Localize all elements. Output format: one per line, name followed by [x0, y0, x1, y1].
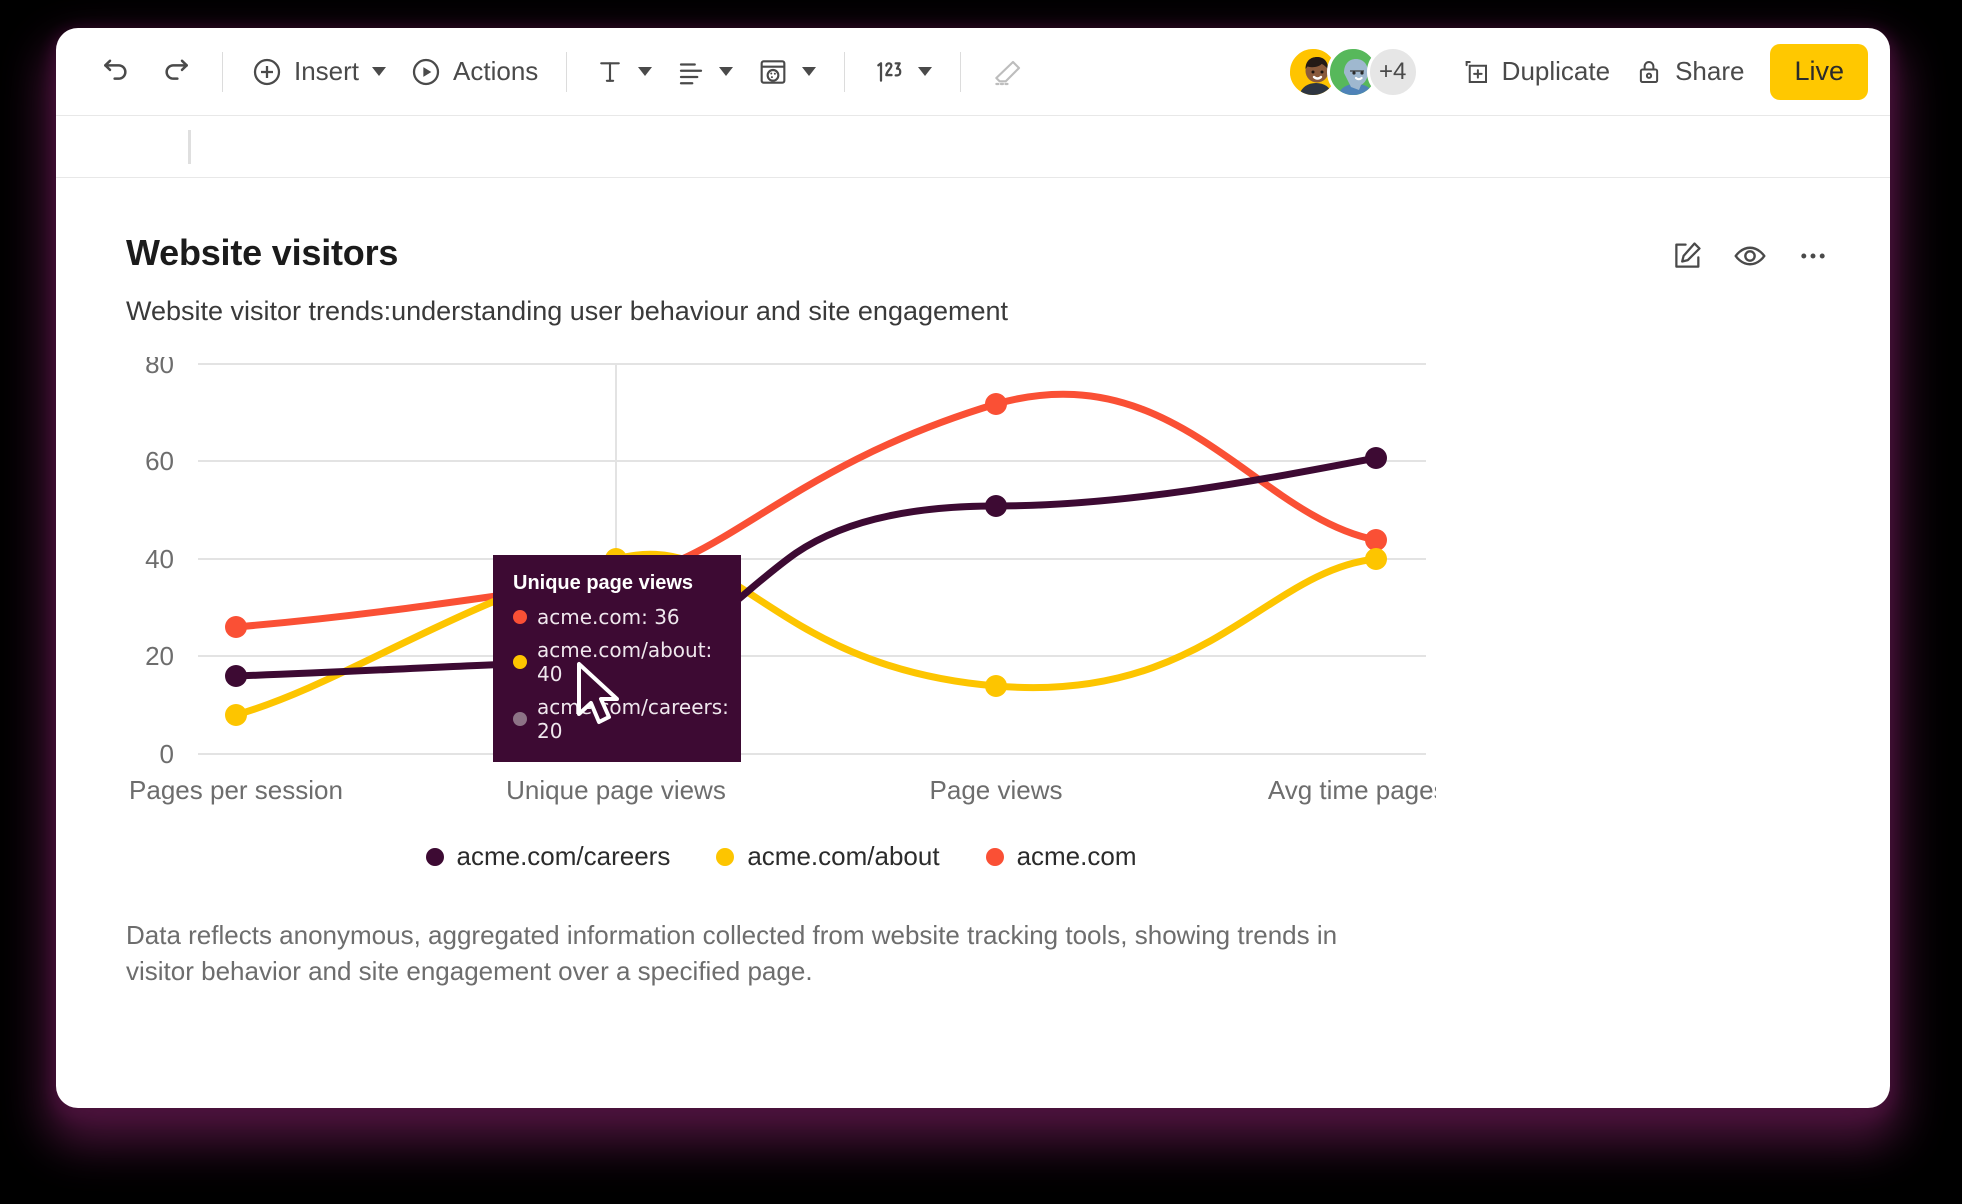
more-options-icon[interactable] — [1796, 239, 1830, 273]
data-point — [1365, 548, 1387, 570]
chart-card: Website visitors Website visitor trends:… — [56, 178, 1890, 990]
legend-dot-icon — [986, 848, 1004, 866]
svg-text:Page views: Page views — [930, 775, 1063, 805]
svg-text:80: 80 — [145, 357, 174, 379]
legend-item-acme[interactable]: acme.com — [986, 841, 1137, 872]
align-button[interactable] — [664, 46, 745, 98]
avatar-overflow-count[interactable]: +4 — [1367, 46, 1419, 98]
data-point — [1365, 529, 1387, 551]
legend-dot-icon — [716, 848, 734, 866]
legend-dot-icon — [426, 848, 444, 866]
data-point — [225, 704, 247, 726]
mouse-cursor-icon — [573, 660, 625, 730]
text-style-button[interactable] — [583, 46, 664, 98]
chart-subtitle: Website visitor trends:understanding use… — [126, 296, 1008, 327]
chart-card-actions — [1670, 232, 1830, 274]
insert-label: Insert — [294, 56, 359, 87]
undo-button[interactable] — [86, 46, 146, 98]
play-circle-icon — [410, 56, 442, 88]
toolbar-divider-4 — [960, 52, 961, 92]
data-point — [225, 665, 247, 687]
svg-text:20: 20 — [145, 641, 174, 671]
actions-button[interactable]: Actions — [398, 46, 550, 98]
app-window: Insert Actions — [56, 28, 1890, 1108]
chart-tooltip: Unique page views acme.com: 36 acme.com/… — [493, 555, 741, 762]
align-left-icon — [676, 57, 706, 87]
legend-label: acme.com — [1017, 841, 1137, 872]
duplicate-icon — [1461, 57, 1491, 87]
chart-legend: acme.com/careers acme.com/about acme.com — [126, 841, 1436, 872]
x-axis-labels: Pages per session Unique page views Page… — [129, 775, 1436, 805]
toolbar-divider-1 — [222, 52, 223, 92]
chevron-down-icon — [372, 67, 386, 76]
chevron-down-icon — [719, 67, 733, 76]
actions-label: Actions — [453, 56, 538, 87]
svg-text:0: 0 — [160, 739, 174, 769]
chevron-down-icon — [802, 67, 816, 76]
palette-window-icon — [757, 56, 789, 88]
ruler-row — [56, 116, 1890, 178]
redo-button[interactable] — [146, 46, 206, 98]
lock-icon — [1634, 57, 1664, 87]
svg-text:Pages per session: Pages per session — [129, 775, 343, 805]
plus-circle-icon — [251, 56, 283, 88]
chart-svg: 80 60 40 20 0 — [126, 357, 1436, 827]
share-label: Share — [1675, 56, 1744, 87]
ruler-tick — [188, 130, 191, 164]
legend-label: acme.com/careers — [457, 841, 671, 872]
tooltip-row-label: acme.com/careers: 20 — [537, 695, 729, 743]
live-button[interactable]: Live — [1770, 44, 1868, 100]
y-axis-labels: 80 60 40 20 0 — [145, 357, 174, 769]
text-format-icon — [595, 57, 625, 87]
series-line-acme-about — [236, 554, 1376, 715]
legend-dot-icon — [513, 655, 527, 669]
chevron-down-icon — [638, 67, 652, 76]
collaborator-avatars[interactable]: +4 — [1287, 46, 1419, 98]
duplicate-label: Duplicate — [1502, 56, 1610, 87]
redo-icon — [160, 56, 192, 88]
grid-lines — [198, 364, 1426, 754]
chart-caption: Data reflects anonymous, aggregated info… — [126, 918, 1341, 990]
legend-item-about[interactable]: acme.com/about — [716, 841, 939, 872]
tooltip-row: acme.com: 36 — [513, 605, 721, 629]
tooltip-row-label: acme.com/about: 40 — [537, 638, 721, 686]
eye-icon[interactable] — [1732, 238, 1768, 274]
tooltip-row-label: acme.com: 36 — [537, 605, 680, 629]
insert-button[interactable]: Insert — [239, 46, 398, 98]
legend-label: acme.com/about — [747, 841, 939, 872]
svg-text:Unique page views: Unique page views — [506, 775, 726, 805]
tooltip-title: Unique page views — [513, 572, 721, 595]
data-point — [1365, 447, 1387, 469]
toolbar-divider-3 — [844, 52, 845, 92]
screen: Insert Actions — [0, 0, 1962, 1204]
data-point — [985, 393, 1007, 415]
svg-text:40: 40 — [145, 544, 174, 574]
edit-icon[interactable] — [1670, 239, 1704, 273]
data-point — [225, 616, 247, 638]
theme-button[interactable] — [745, 46, 828, 98]
data-point — [985, 675, 1007, 697]
undo-icon — [100, 56, 132, 88]
legend-item-careers[interactable]: acme.com/careers — [426, 841, 671, 872]
legend-dot-icon — [513, 610, 527, 624]
line-chart: 80 60 40 20 0 — [126, 357, 1436, 827]
page-title: Website visitors — [126, 232, 1008, 274]
eraser-button[interactable] — [977, 46, 1037, 98]
data-point — [985, 495, 1007, 517]
legend-dot-icon — [513, 712, 527, 726]
eraser-icon — [991, 56, 1023, 88]
share-button[interactable]: Share — [1622, 46, 1756, 98]
svg-text:Avg time pages (s): Avg time pages (s) — [1268, 775, 1436, 805]
svg-text:60: 60 — [145, 446, 174, 476]
series-line-acme-com — [236, 394, 1376, 627]
numbers-123-icon — [873, 56, 905, 88]
number-format-button[interactable] — [861, 46, 944, 98]
duplicate-button[interactable]: Duplicate — [1449, 46, 1622, 98]
chart-card-header: Website visitors Website visitor trends:… — [126, 232, 1830, 327]
toolbar-divider-2 — [566, 52, 567, 92]
toolbar: Insert Actions — [56, 28, 1890, 116]
chevron-down-icon — [918, 67, 932, 76]
